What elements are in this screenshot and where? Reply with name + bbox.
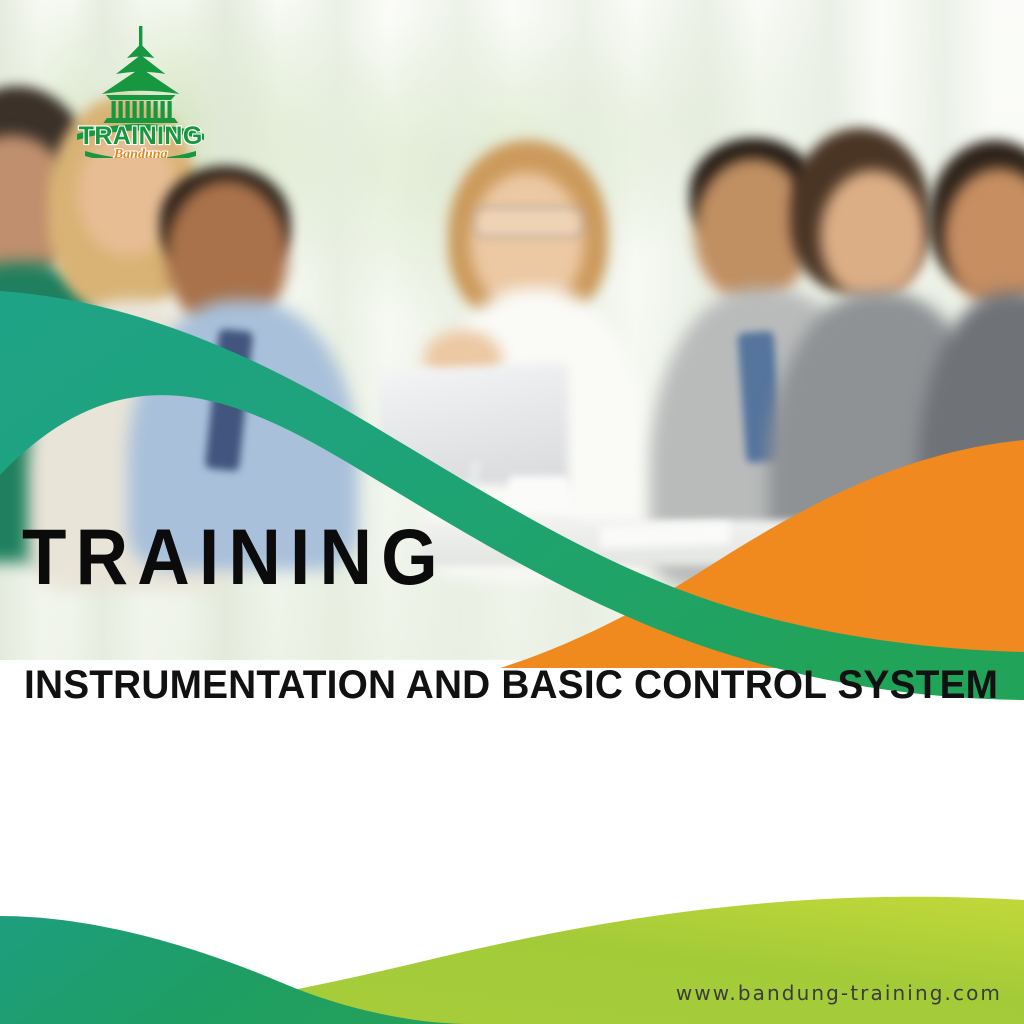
logo-secondary-text: Bandung <box>113 147 168 158</box>
green-leaf-wave <box>0 916 470 1024</box>
person-4-glasses <box>472 206 586 238</box>
person-6-head <box>820 170 926 302</box>
logo-primary-text: TRAINING <box>79 122 203 150</box>
page-title: TRAINING <box>22 517 447 596</box>
training-bandung-logo[interactable]: TRAINING Bandung <box>66 22 216 158</box>
course-subtitle: INSTRUMENTATION AND BASIC CONTROL SYSTEM <box>24 665 998 705</box>
document <box>600 522 731 549</box>
website-url[interactable]: www.bandung-training.com <box>676 981 1002 1005</box>
training-flyer-poster: TRAINING Bandung TRAINING INSTRUMENTATIO… <box>0 0 1024 1024</box>
